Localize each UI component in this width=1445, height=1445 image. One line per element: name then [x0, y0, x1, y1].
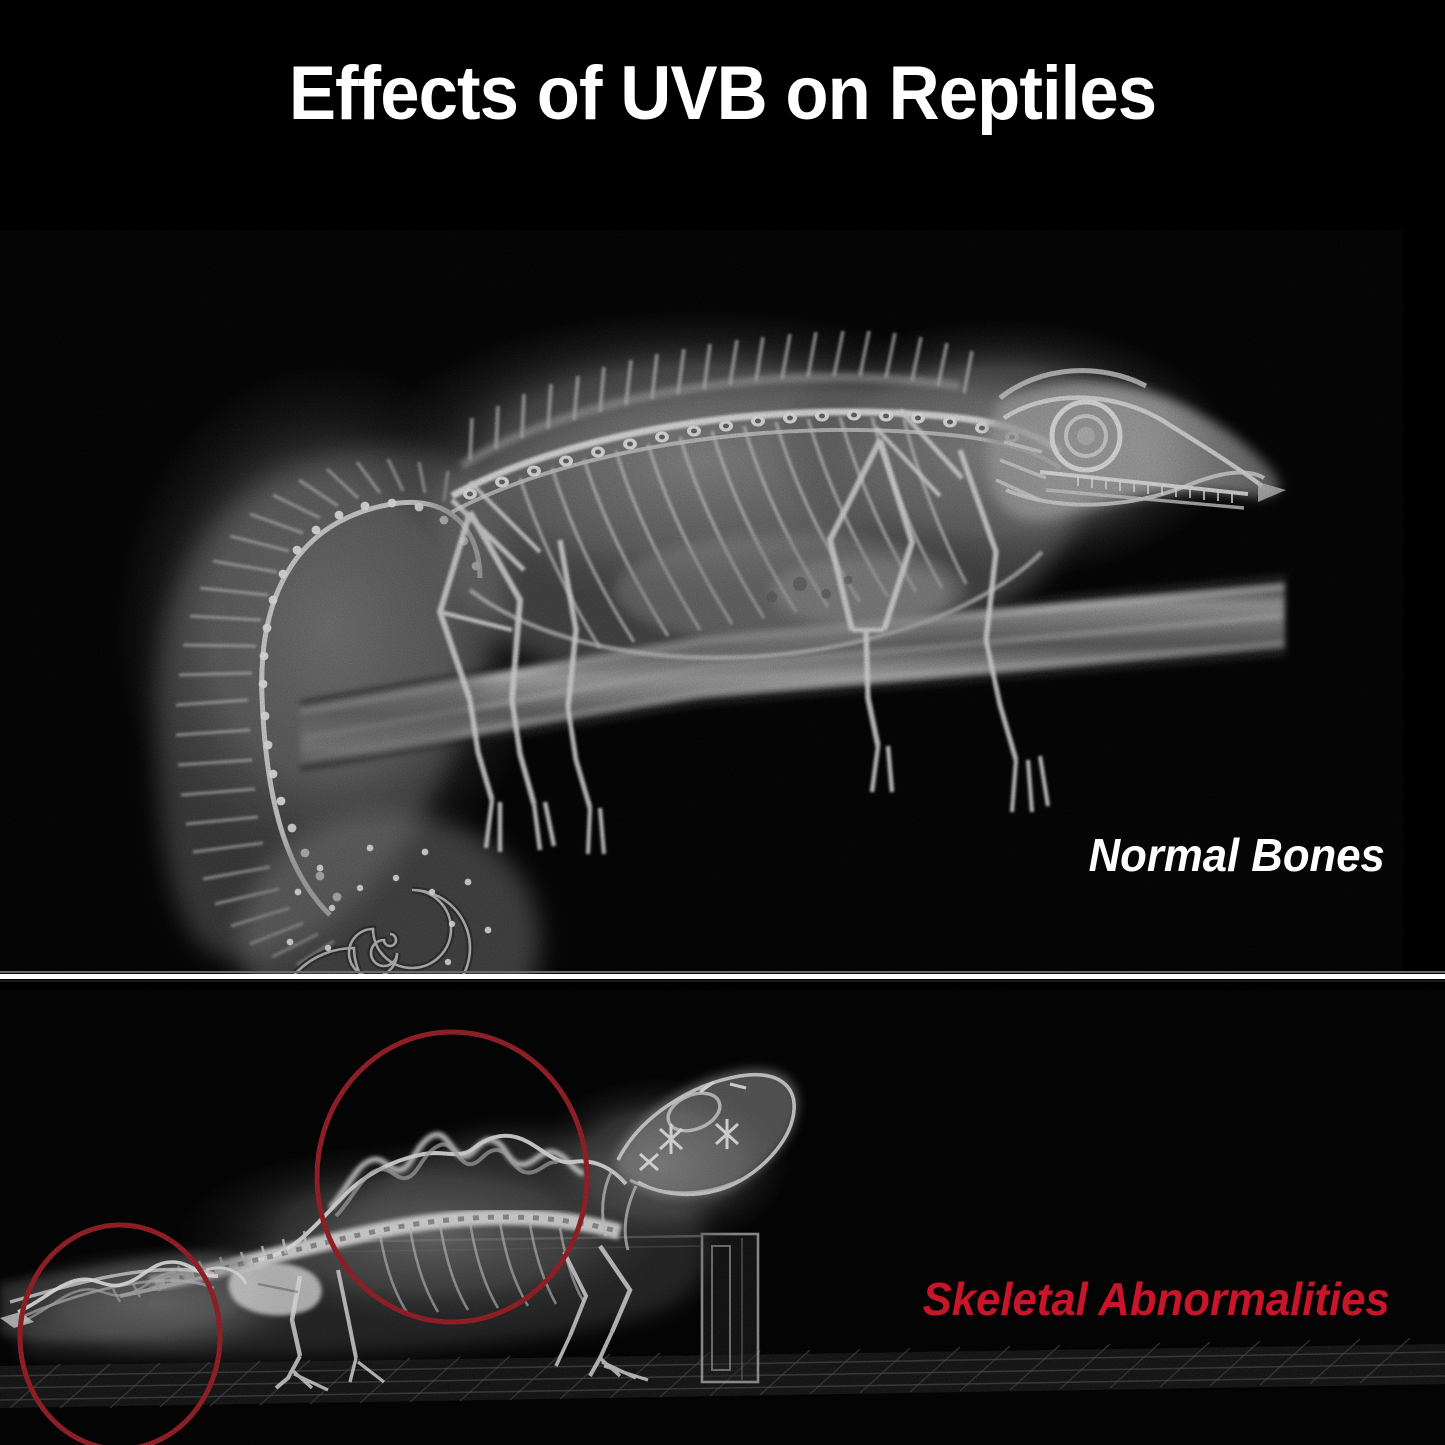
page-title: Effects of UVB on Reptiles: [51, 54, 1395, 134]
divider-shadow: [0, 980, 1445, 982]
bearded-dragon-radiograph: [0, 984, 1445, 1445]
caption-skeletal-abnormalities: Skeletal Abnormalities: [923, 1272, 1390, 1326]
caption-normal-bones: Normal Bones: [1089, 828, 1385, 882]
skeletal-abnormalities-xray-panel: [0, 984, 1445, 1445]
divider-rule: [0, 974, 1445, 979]
divider-hairline: [0, 971, 1445, 973]
poster-root: Effects of UVB on Reptiles: [0, 0, 1445, 1445]
panel-divider: [0, 971, 1445, 983]
